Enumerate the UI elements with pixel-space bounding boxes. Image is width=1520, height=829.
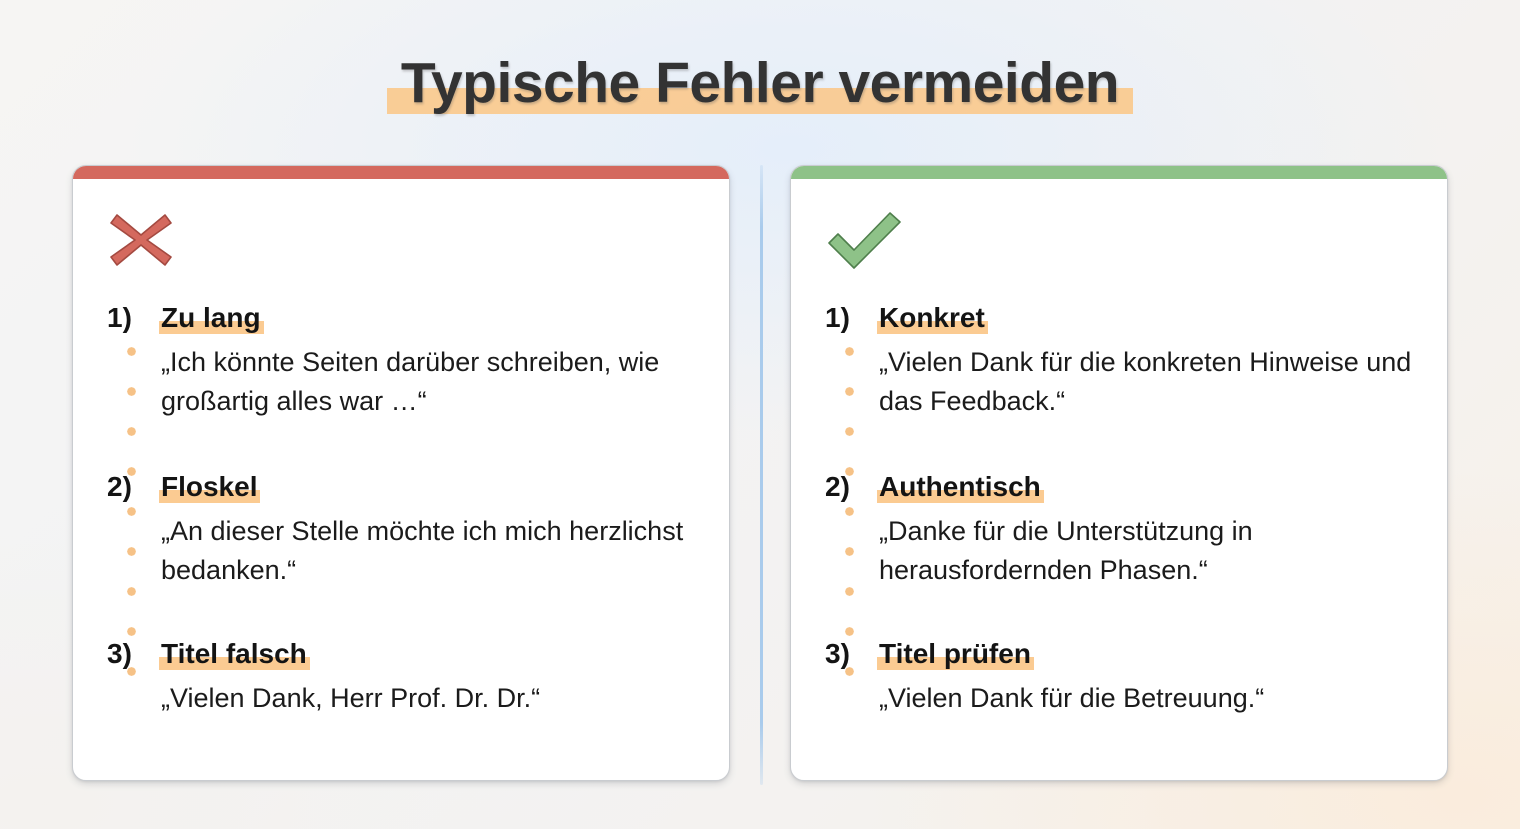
slide-canvas: Typische Fehler vermeiden 1) Zu l xyxy=(0,0,1520,829)
list-gap xyxy=(73,590,729,634)
list-item: 2) Floskel „An dieser Stelle möchte ich … xyxy=(73,467,729,590)
title-block: Typische Fehler vermeiden xyxy=(0,44,1520,128)
list-item-quote: „Danke für die Unterstützung in herausfo… xyxy=(879,512,1439,590)
list-item: 3) Titel prüfen „Vielen Dank für die Bet… xyxy=(791,634,1447,718)
list-item-quote: „An dieser Stelle möchte ich mich herzli… xyxy=(161,512,721,590)
list-item-title-wrap: Zu lang xyxy=(161,298,261,338)
list-item-head: 1) Zu lang xyxy=(73,298,729,338)
card-bad-examples: 1) Zu lang „Ich könnte Seiten darüber sc… xyxy=(72,165,730,781)
center-divider xyxy=(760,165,763,785)
check-icon xyxy=(825,209,893,271)
title-inner: Typische Fehler vermeiden xyxy=(395,44,1125,122)
list-item-quote: „Vielen Dank, Herr Prof. Dr. Dr.“ xyxy=(161,679,721,718)
list-item-title: Authentisch xyxy=(879,471,1041,502)
list-gap xyxy=(791,421,1447,467)
list-item-head: 2) Authentisch xyxy=(791,467,1447,507)
list-item-title: Titel prüfen xyxy=(879,638,1031,669)
list-gap xyxy=(73,421,729,467)
card-bad-topbar xyxy=(73,166,729,179)
list-item: 1) Zu lang „Ich könnte Seiten darüber sc… xyxy=(73,298,729,421)
bad-example-list: 1) Zu lang „Ich könnte Seiten darüber sc… xyxy=(73,298,729,718)
list-item-number: 1) xyxy=(107,298,161,338)
card-good-body: 1) Konkret „Vielen Dank für die konkrete… xyxy=(791,179,1447,780)
list-item-number: 1) xyxy=(825,298,879,338)
list-item-head: 2) Floskel xyxy=(73,467,729,507)
list-item-quote: „Vielen Dank für die konkreten Hinweise … xyxy=(879,343,1439,421)
list-item-head: 3) Titel prüfen xyxy=(791,634,1447,674)
card-good-topbar xyxy=(791,166,1447,179)
list-item-title: Floskel xyxy=(161,471,257,502)
list-item-title-wrap: Konkret xyxy=(879,298,985,338)
list-item-title: Konkret xyxy=(879,302,985,333)
list-item: 1) Konkret „Vielen Dank für die konkrete… xyxy=(791,298,1447,421)
list-item-head: 1) Konkret xyxy=(791,298,1447,338)
list-item-number: 2) xyxy=(825,467,879,507)
good-example-list: 1) Konkret „Vielen Dank für die konkrete… xyxy=(791,298,1447,718)
list-item-head: 3) Titel falsch xyxy=(73,634,729,674)
page-title: Typische Fehler vermeiden xyxy=(401,51,1119,115)
list-item-title-wrap: Authentisch xyxy=(879,467,1041,507)
card-good-examples: 1) Konkret „Vielen Dank für die konkrete… xyxy=(790,165,1448,781)
list-item-number: 2) xyxy=(107,467,161,507)
list-gap xyxy=(791,590,1447,634)
list-item-title-wrap: Titel prüfen xyxy=(879,634,1031,674)
list-item: 2) Authentisch „Danke für die Unterstütz… xyxy=(791,467,1447,590)
card-bad-body: 1) Zu lang „Ich könnte Seiten darüber sc… xyxy=(73,179,729,780)
list-item-number: 3) xyxy=(825,634,879,674)
list-item-quote: „Ich könnte Seiten darüber schreiben, wi… xyxy=(161,343,721,421)
list-item-title-wrap: Titel falsch xyxy=(161,634,307,674)
cross-icon xyxy=(107,209,175,271)
list-item: 3) Titel falsch „Vielen Dank, Herr Prof.… xyxy=(73,634,729,718)
list-item-number: 3) xyxy=(107,634,161,674)
list-item-title-wrap: Floskel xyxy=(161,467,257,507)
list-item-quote: „Vielen Dank für die Betreuung.“ xyxy=(879,679,1439,718)
list-item-title: Titel falsch xyxy=(161,638,307,669)
list-item-title: Zu lang xyxy=(161,302,261,333)
